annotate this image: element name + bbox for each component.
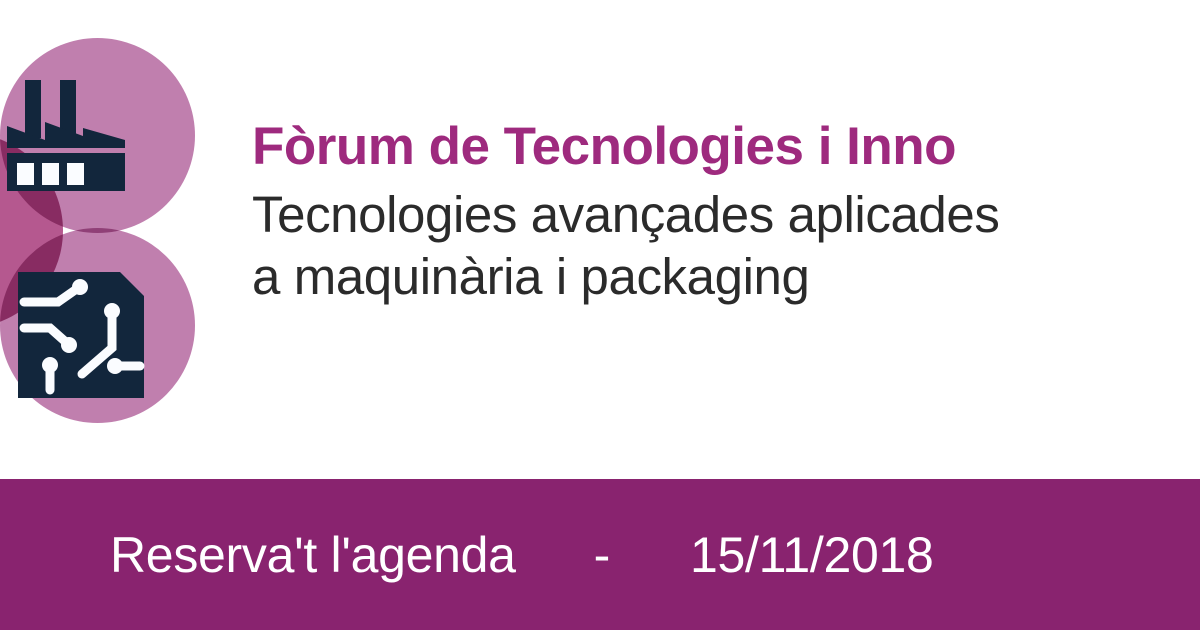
event-subtitle-line-2: a maquinària i packaging	[252, 246, 1200, 308]
footer-content: Reserva't l'agenda - 15/11/2018	[110, 530, 934, 580]
event-banner: Fòrum de Tecnologies i Inno Tecnologies …	[0, 0, 1200, 630]
event-date: 15/11/2018	[690, 530, 934, 580]
headline-block: Fòrum de Tecnologies i Inno Tecnologies …	[252, 118, 1200, 309]
factory-icon	[1, 78, 131, 193]
circuit-chip-icon	[16, 270, 146, 400]
footer-separator: -	[594, 530, 610, 580]
event-title: Fòrum de Tecnologies i Inno	[252, 118, 1200, 175]
logo	[0, 30, 208, 450]
save-the-date-label: Reserva't l'agenda	[110, 530, 516, 580]
footer-bar: Reserva't l'agenda - 15/11/2018	[0, 479, 1200, 630]
event-subtitle-line-1: Tecnologies avançades aplicades	[252, 184, 1200, 246]
